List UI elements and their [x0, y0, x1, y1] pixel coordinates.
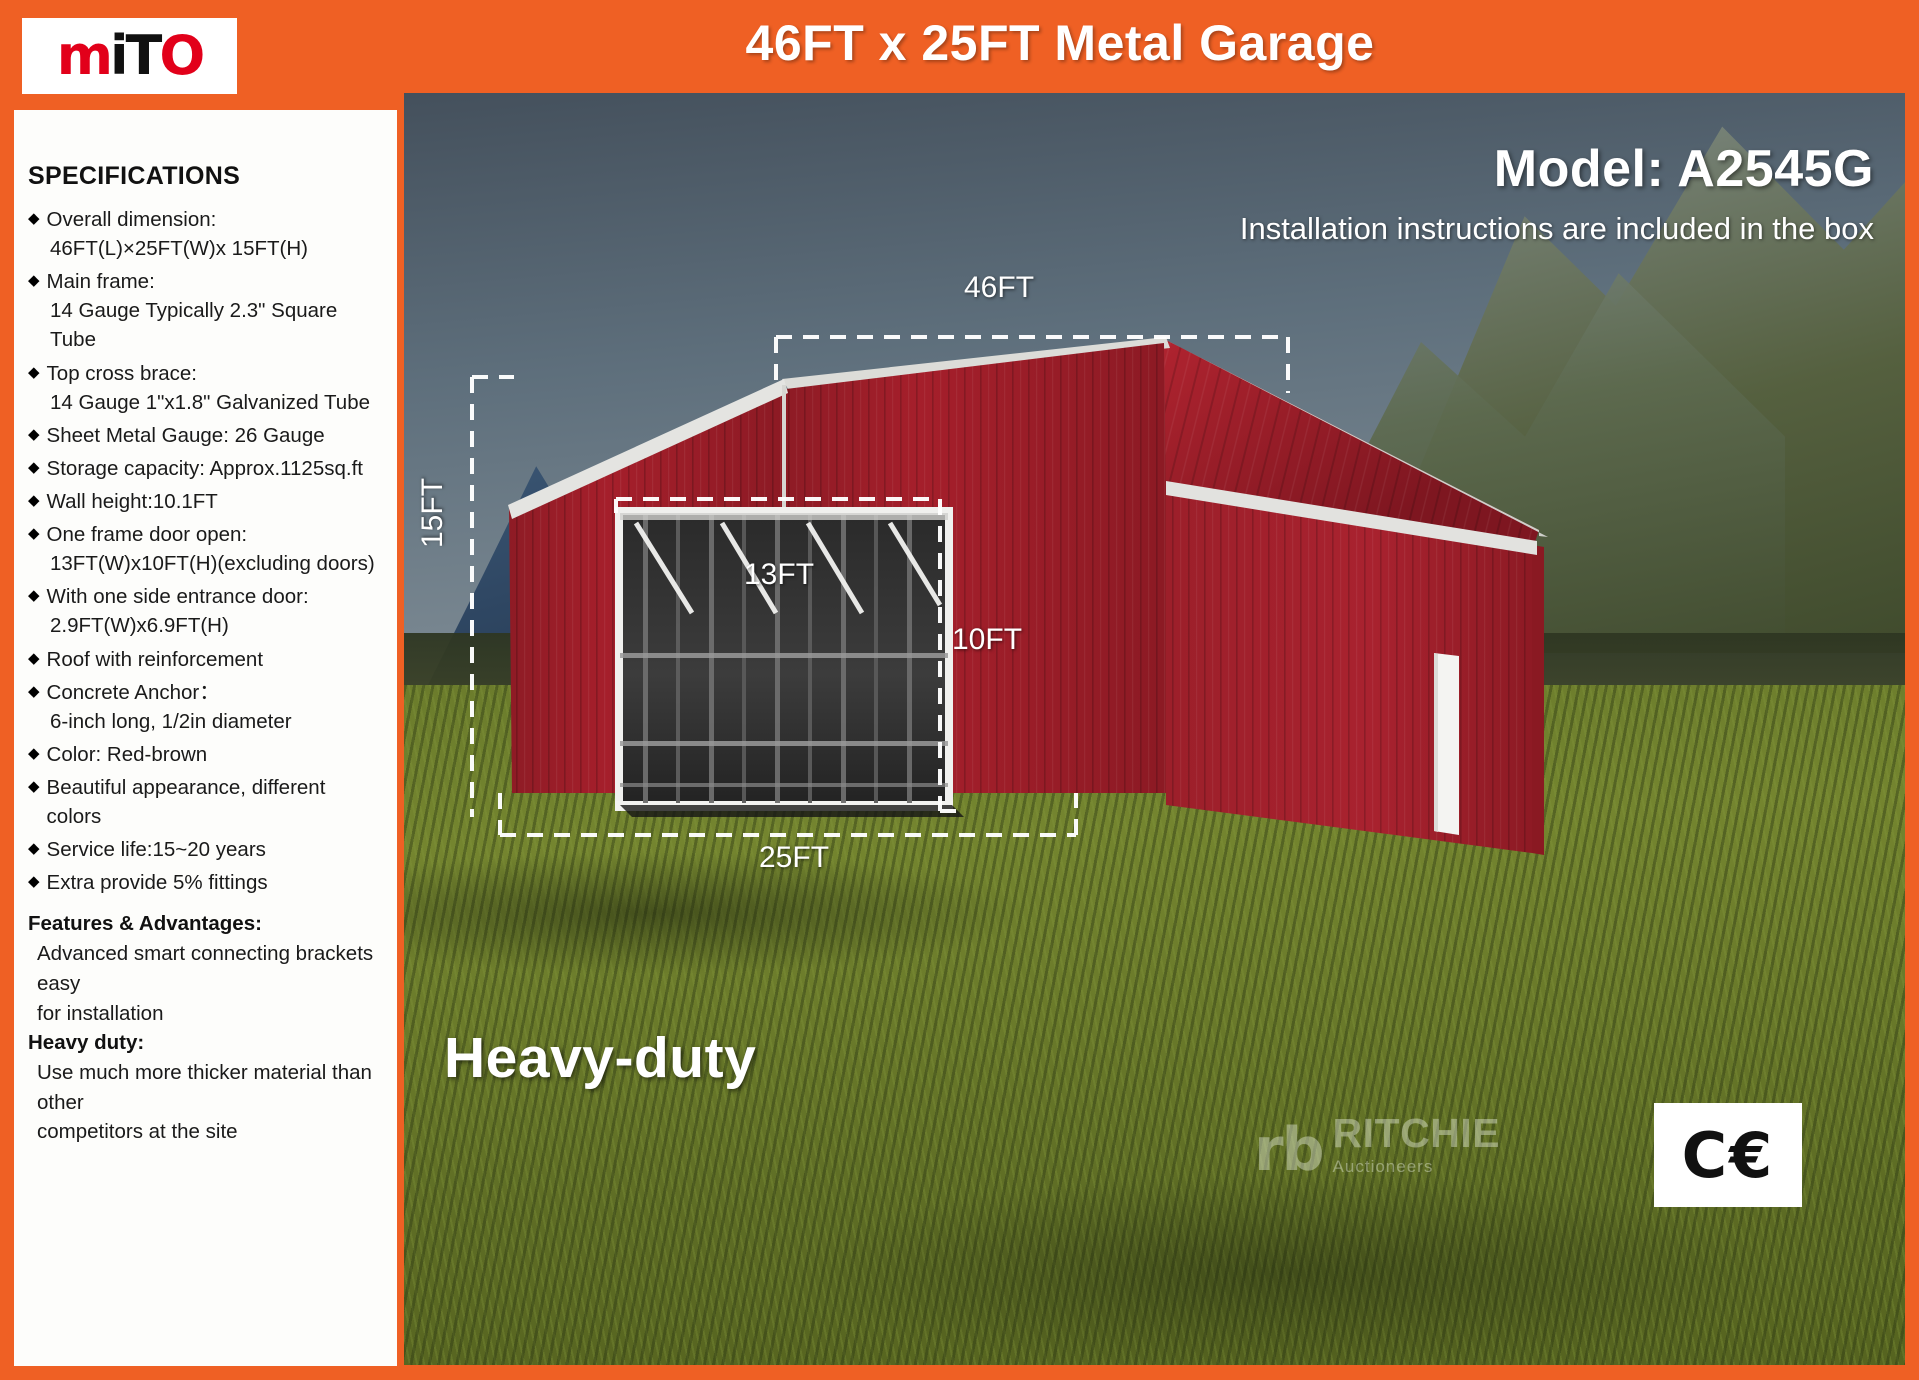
- spec-item-detail: 46FT(L)×25FT(W)x 15FT(H): [28, 234, 383, 263]
- dimension-label-door-height: 10FT: [952, 623, 1022, 657]
- spec-item: ◆Beautiful appearance, different colors: [28, 773, 383, 831]
- specifications-list: ◆Overall dimension:46FT(L)×25FT(W)x 15FT…: [28, 205, 383, 897]
- logo-segment-red-2: O: [159, 24, 202, 87]
- spec-item-label: Overall dimension:: [47, 205, 217, 234]
- spec-item: ◆Roof with reinforcement: [28, 645, 383, 674]
- spec-item-primary: ◆Roof with reinforcement: [28, 645, 383, 674]
- installation-note: Installation instructions are included i…: [734, 211, 1874, 247]
- features-advantages-block: Features & Advantages: Advanced smart co…: [28, 909, 383, 1147]
- ritchie-wordmark: RITCHIE: [1333, 1113, 1501, 1154]
- heavy-duty-heading: Heavy duty:: [28, 1028, 383, 1058]
- features-heading: Features & Advantages:: [28, 909, 383, 939]
- spec-item-label: With one side entrance door:: [47, 582, 309, 611]
- dimension-label-width: 25FT: [759, 841, 829, 875]
- brand-logo: miTO: [22, 18, 237, 94]
- ritchie-subtitle: Auctioneers: [1333, 1157, 1501, 1177]
- spec-item: ◆Concrete Anchor：6-inch long, 1/2in diam…: [28, 678, 383, 736]
- diamond-bullet-icon: ◆: [28, 868, 40, 896]
- diamond-bullet-icon: ◆: [28, 773, 40, 801]
- specifications-heading: SPECIFICATIONS: [28, 162, 383, 191]
- spec-item: ◆Extra provide 5% fittings: [28, 868, 383, 897]
- spec-item-label: Concrete Anchor：: [47, 678, 220, 707]
- spec-item: ◆With one side entrance door:2.9FT(W)x6.…: [28, 582, 383, 640]
- spec-item-detail: 14 Gauge 1ʺx1.8ʺ Galvanized Tube: [28, 388, 383, 417]
- spec-item-label: Service life:15~20 years: [47, 835, 266, 864]
- spec-item: ◆Sheet Metal Gauge: 26 Gauge: [28, 421, 383, 450]
- spec-item-label: Beautiful appearance, different colors: [47, 773, 383, 831]
- ritchie-wordmark-group: RITCHIE Auctioneers: [1333, 1113, 1501, 1177]
- ritchie-watermark: rb RITCHIE Auctioneers: [1254, 1113, 1500, 1177]
- diamond-bullet-icon: ◆: [28, 520, 40, 548]
- spec-item-primary: ◆One frame door open:: [28, 520, 383, 549]
- brand-logo-text: miTO: [57, 29, 203, 83]
- spec-item-detail: 2.9FT(W)x6.9FT(H): [28, 611, 383, 640]
- spec-item: ◆Overall dimension:46FT(L)×25FT(W)x 15FT…: [28, 205, 383, 263]
- spec-item: ◆Service life:15~20 years: [28, 835, 383, 864]
- spec-item-label: Extra provide 5% fittings: [47, 868, 268, 897]
- spec-item: ◆Main frame:14 Gauge Typically 2.3ʺ Squa…: [28, 267, 383, 354]
- diamond-bullet-icon: ◆: [28, 835, 40, 863]
- diamond-bullet-icon: ◆: [28, 582, 40, 610]
- heavy-duty-body-line-2: competitors at the site: [28, 1117, 383, 1147]
- diamond-bullet-icon: ◆: [28, 421, 40, 449]
- logo-segment-black: iT: [110, 24, 159, 87]
- spec-item-label: Storage capacity: Approx.1125sq.ft: [47, 454, 363, 483]
- diamond-bullet-icon: ◆: [28, 359, 40, 387]
- spec-item-label: Sheet Metal Gauge: 26 Gauge: [47, 421, 325, 450]
- dimension-label-door-width: 13FT: [744, 558, 814, 592]
- spec-item-primary: ◆Extra provide 5% fittings: [28, 868, 383, 897]
- spec-item-label: Color: Red-brown: [47, 740, 208, 769]
- heavy-duty-tagline: Heavy-duty: [444, 1025, 756, 1091]
- spec-item-detail: 13FT(W)x10FT(H)(excluding doors): [28, 549, 383, 578]
- spec-item-detail: 6-inch long, 1/2in diameter: [28, 707, 383, 736]
- spec-item-primary: ◆Overall dimension:: [28, 205, 383, 234]
- spec-item-detail: 14 Gauge Typically 2.3ʺ Square Tube: [28, 296, 383, 354]
- product-spec-sheet: miTO 46FT x 25FT Metal Garage SPECIFICAT…: [0, 0, 1919, 1380]
- diamond-bullet-icon: ◆: [28, 645, 40, 673]
- spec-item-primary: ◆Wall height:10.1FT: [28, 487, 383, 516]
- diamond-bullet-icon: ◆: [28, 487, 40, 515]
- spec-item: ◆Wall height:10.1FT: [28, 487, 383, 516]
- spec-item-label: Top cross brace:: [47, 359, 197, 388]
- spec-item-primary: ◆Storage capacity: Approx.1125sq.ft: [28, 454, 383, 483]
- spec-item-primary: ◆Sheet Metal Gauge: 26 Gauge: [28, 421, 383, 450]
- spec-item-label: One frame door open:: [47, 520, 248, 549]
- features-body-line-2: for installation: [28, 999, 383, 1029]
- diamond-bullet-icon: ◆: [28, 454, 40, 482]
- spec-item: ◆Top cross brace:14 Gauge 1ʺx1.8ʺ Galvan…: [28, 359, 383, 417]
- spec-item-primary: ◆Color: Red-brown: [28, 740, 383, 769]
- ce-mark-box: C€: [1654, 1103, 1802, 1207]
- spec-item-label: Main frame:: [47, 267, 155, 296]
- spec-item-primary: ◆Top cross brace:: [28, 359, 383, 388]
- heavy-duty-body-line-1: Use much more thicker material than othe…: [28, 1058, 383, 1117]
- spec-item-primary: ◆Concrete Anchor：: [28, 678, 383, 707]
- features-body-line-1: Advanced smart connecting brackets easy: [28, 939, 383, 998]
- spec-item-primary: ◆Service life:15~20 years: [28, 835, 383, 864]
- dimension-label-height: 15FT: [416, 478, 450, 548]
- ritchie-rb-mark: rb: [1254, 1124, 1323, 1177]
- ce-mark-text: C€: [1682, 1119, 1775, 1192]
- diamond-bullet-icon: ◆: [28, 740, 40, 768]
- spec-item-primary: ◆Beautiful appearance, different colors: [28, 773, 383, 831]
- model-label: Model: A2545G: [1044, 139, 1874, 199]
- spec-item-label: Wall height:10.1FT: [47, 487, 218, 516]
- dimension-label-length: 46FT: [964, 271, 1034, 305]
- spec-item-label: Roof with reinforcement: [47, 645, 263, 674]
- specifications-panel: SPECIFICATIONS ◆Overall dimension:46FT(L…: [14, 110, 397, 1366]
- logo-segment-red-1: m: [57, 24, 110, 87]
- diamond-bullet-icon: ◆: [28, 678, 40, 706]
- spec-item: ◆Color: Red-brown: [28, 740, 383, 769]
- spec-item: ◆One frame door open:13FT(W)x10FT(H)(exc…: [28, 520, 383, 578]
- spec-item-primary: ◆With one side entrance door:: [28, 582, 383, 611]
- product-photo: Model: A2545G Installation instructions …: [404, 93, 1905, 1365]
- diamond-bullet-icon: ◆: [28, 267, 40, 295]
- diamond-bullet-icon: ◆: [28, 205, 40, 233]
- spec-item-primary: ◆Main frame:: [28, 267, 383, 296]
- spec-item: ◆Storage capacity: Approx.1125sq.ft: [28, 454, 383, 483]
- page-title: 46FT x 25FT Metal Garage: [500, 14, 1620, 72]
